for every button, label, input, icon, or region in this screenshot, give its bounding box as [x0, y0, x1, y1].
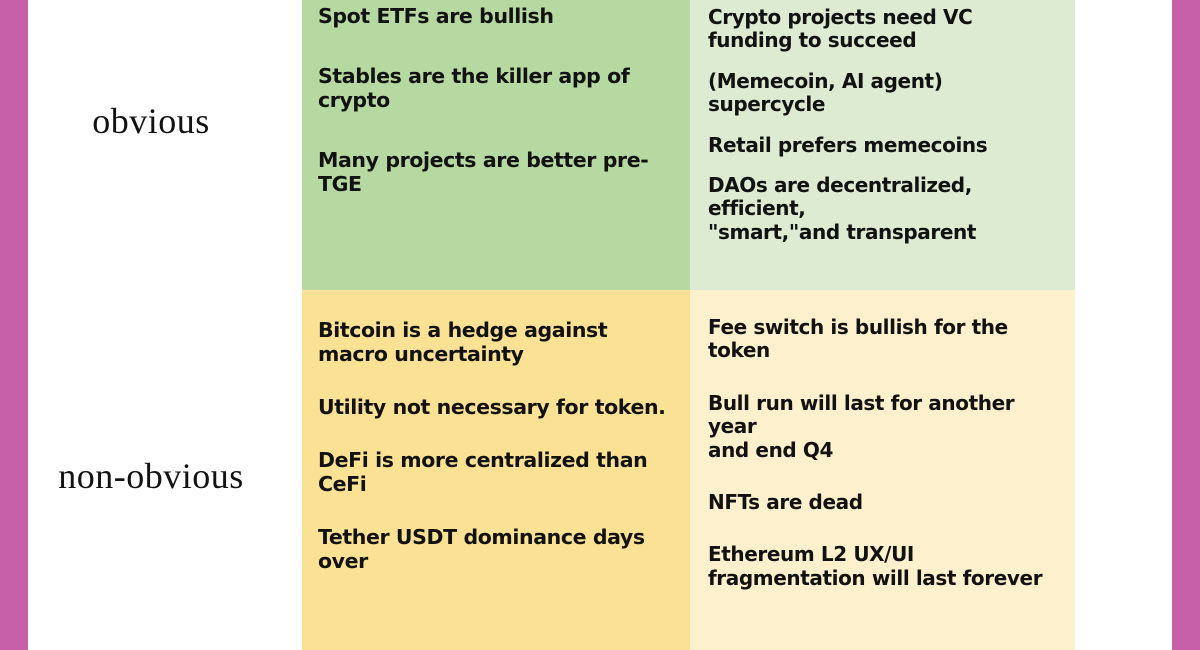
list-item: NFTs are dead [708, 491, 1065, 514]
right-edge-decoration-bar [1172, 0, 1200, 650]
list-item: Retail prefers memecoins [708, 134, 1065, 157]
list-item: Bitcoin is a hedge against macro uncerta… [318, 318, 680, 366]
list-item: (Memecoin, AI agent) supercycle [708, 70, 1065, 117]
list-item: Stables are the killer app of crypto [318, 64, 680, 112]
quadrant-obvious-left-items: Spot ETFs are bullish Stables are the ki… [318, 2, 680, 196]
quadrant-non-obvious-left: Bitcoin is a hedge against macro uncerta… [302, 290, 690, 650]
quadrant-non-obvious-left-items: Bitcoin is a hedge against macro uncerta… [318, 304, 680, 573]
row-label-obvious: obvious [0, 100, 302, 142]
quadrant-obvious-right: Crypto projects need VC funding to succe… [690, 0, 1075, 290]
list-item: Crypto projects need VC funding to succe… [708, 6, 1065, 53]
row-label-non-obvious: non-obvious [0, 455, 302, 497]
quadrant-non-obvious-right-items: Fee switch is bullish for the token Bull… [708, 304, 1065, 590]
quadrant-obvious-left: Spot ETFs are bullish Stables are the ki… [302, 0, 690, 290]
list-item: Spot ETFs are bullish [318, 4, 680, 28]
list-item: DeFi is more centralized than CeFi [318, 448, 680, 496]
quadrant-non-obvious-right: Fee switch is bullish for the token Bull… [690, 290, 1075, 650]
list-item: Tether USDT dominance days over [318, 525, 680, 573]
list-item: Utility not necessary for token. [318, 395, 680, 419]
left-edge-decoration-bar [0, 0, 28, 650]
list-item: Bull run will last for another year and … [708, 392, 1065, 462]
list-item: Fee switch is bullish for the token [708, 316, 1065, 363]
slide-canvas: obvious non-obvious Spot ETFs are bullis… [0, 0, 1200, 650]
quadrant-obvious-right-items: Crypto projects need VC funding to succe… [708, 2, 1065, 244]
two-by-two-matrix: Spot ETFs are bullish Stables are the ki… [302, 0, 1075, 650]
list-item: DAOs are decentralized, efficient, "smar… [708, 174, 1065, 244]
list-item: Ethereum L2 UX/UI fragmentation will las… [708, 543, 1065, 590]
list-item: Many projects are better pre-TGE [318, 148, 680, 196]
